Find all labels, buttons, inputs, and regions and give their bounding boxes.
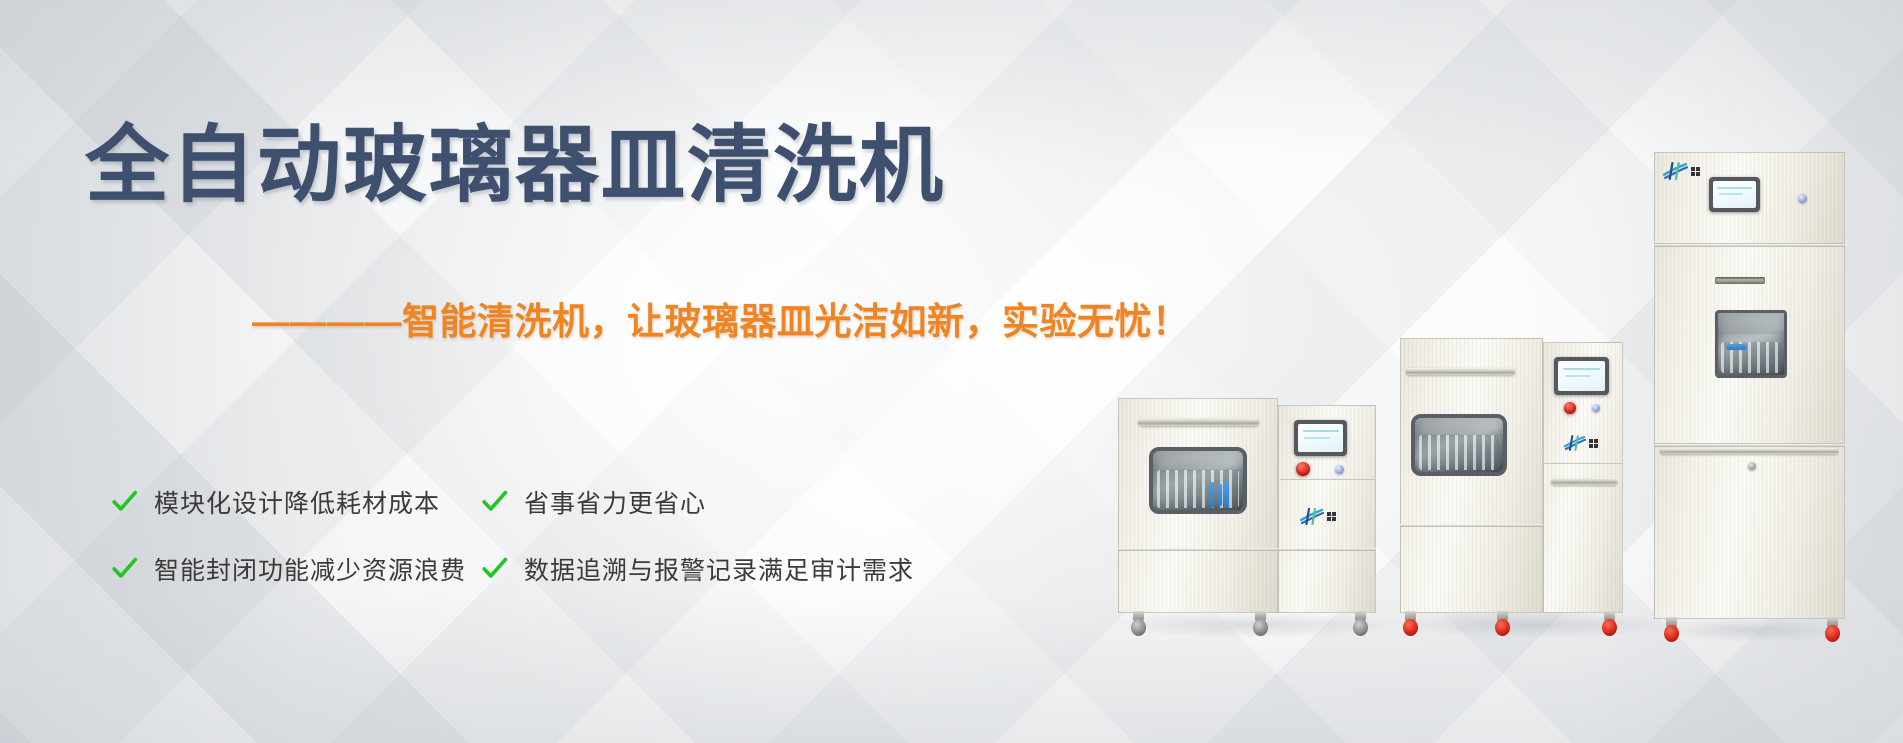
machine2-emergency-stop-button[interactable] xyxy=(1564,402,1576,414)
product-banner: 全自动玻璃器皿清洗机 ————智能清洗机，让玻璃器皿光洁如新，实验无忧！ 模块化… xyxy=(0,0,1903,743)
machine1-caster xyxy=(1253,611,1268,637)
machine1-emergency-stop-button[interactable] xyxy=(1296,462,1310,476)
machine3-lower-door-handle xyxy=(1660,448,1838,454)
brand-logo-mark xyxy=(1663,162,1688,180)
brand-logo-dots xyxy=(1691,167,1700,176)
product-shadow xyxy=(1390,612,1680,638)
check-icon xyxy=(110,554,139,583)
brand-logo xyxy=(1300,508,1336,525)
page-subtitle: ————智能清洗机，让玻璃器皿光洁如新，实验无忧！ xyxy=(252,291,1190,345)
feature-label: 智能封闭功能减少资源浪费 xyxy=(154,551,466,587)
feature-label: 省事省力更省心 xyxy=(524,484,706,520)
machine3-power-indicator[interactable] xyxy=(1798,194,1807,203)
brand-logo-mark xyxy=(1300,508,1324,525)
product-shadow xyxy=(1655,618,1850,642)
machine2-panel-seam xyxy=(1400,524,1543,527)
list-item: 数据追溯与报警记录满足审计需求 xyxy=(480,535,914,602)
machine1-caster xyxy=(1131,611,1146,637)
machine2-caster xyxy=(1495,611,1510,637)
machine3-caster xyxy=(1664,617,1679,643)
machine3-lower-cabinet xyxy=(1654,444,1845,619)
brand-logo xyxy=(1663,162,1700,180)
list-item: 智能封闭功能减少资源浪费 xyxy=(110,535,465,602)
machine2-caster xyxy=(1602,611,1617,637)
machine3-touchscreen[interactable] xyxy=(1709,177,1760,212)
machine1-viewing-window xyxy=(1149,447,1247,514)
check-icon xyxy=(480,554,509,583)
machine3-door-latch[interactable] xyxy=(1748,462,1756,470)
machine3-vent-slot xyxy=(1715,277,1765,284)
machine2-power-indicator[interactable] xyxy=(1592,404,1600,412)
machine2-viewing-window xyxy=(1411,414,1507,476)
machine1-power-indicator[interactable] xyxy=(1335,465,1344,474)
machine3-caster xyxy=(1825,617,1840,643)
list-item: 模块化设计降低耗材成本 xyxy=(110,468,465,535)
feature-label: 模块化设计降低耗材成本 xyxy=(154,484,440,520)
machine3-panel-seam xyxy=(1654,444,1845,447)
machine3-panel-seam xyxy=(1654,244,1845,247)
machine1-touchscreen[interactable] xyxy=(1294,420,1347,456)
machine1-panel-seam xyxy=(1118,548,1376,551)
machine1-panel-seam xyxy=(1280,478,1375,480)
machine2-door-handle xyxy=(1406,368,1515,375)
machine2-lower-door-handle xyxy=(1551,478,1617,485)
feature-list: 模块化设计降低耗材成本 省事省力更省心 智能封闭功能减少资源浪费 数据追溯与报警… xyxy=(110,468,914,602)
brand-logo-dots xyxy=(1327,512,1336,521)
list-item: 省事省力更省心 xyxy=(480,468,914,535)
machine1-door-handle xyxy=(1138,418,1259,426)
brand-logo xyxy=(1564,435,1598,451)
page-title: 全自动玻璃器皿清洗机 xyxy=(85,98,945,219)
machine2-caster xyxy=(1403,611,1418,637)
machine3-viewing-window xyxy=(1715,310,1787,378)
brand-logo-mark xyxy=(1564,435,1586,451)
machine2-touchscreen[interactable] xyxy=(1554,357,1609,395)
feature-label: 数据追溯与报警记录满足审计需求 xyxy=(524,551,914,587)
brand-logo-dots xyxy=(1589,439,1598,448)
machine1-caster xyxy=(1353,611,1368,637)
machine2-panel-seam xyxy=(1543,462,1623,464)
check-icon xyxy=(110,487,139,516)
check-icon xyxy=(480,487,509,516)
